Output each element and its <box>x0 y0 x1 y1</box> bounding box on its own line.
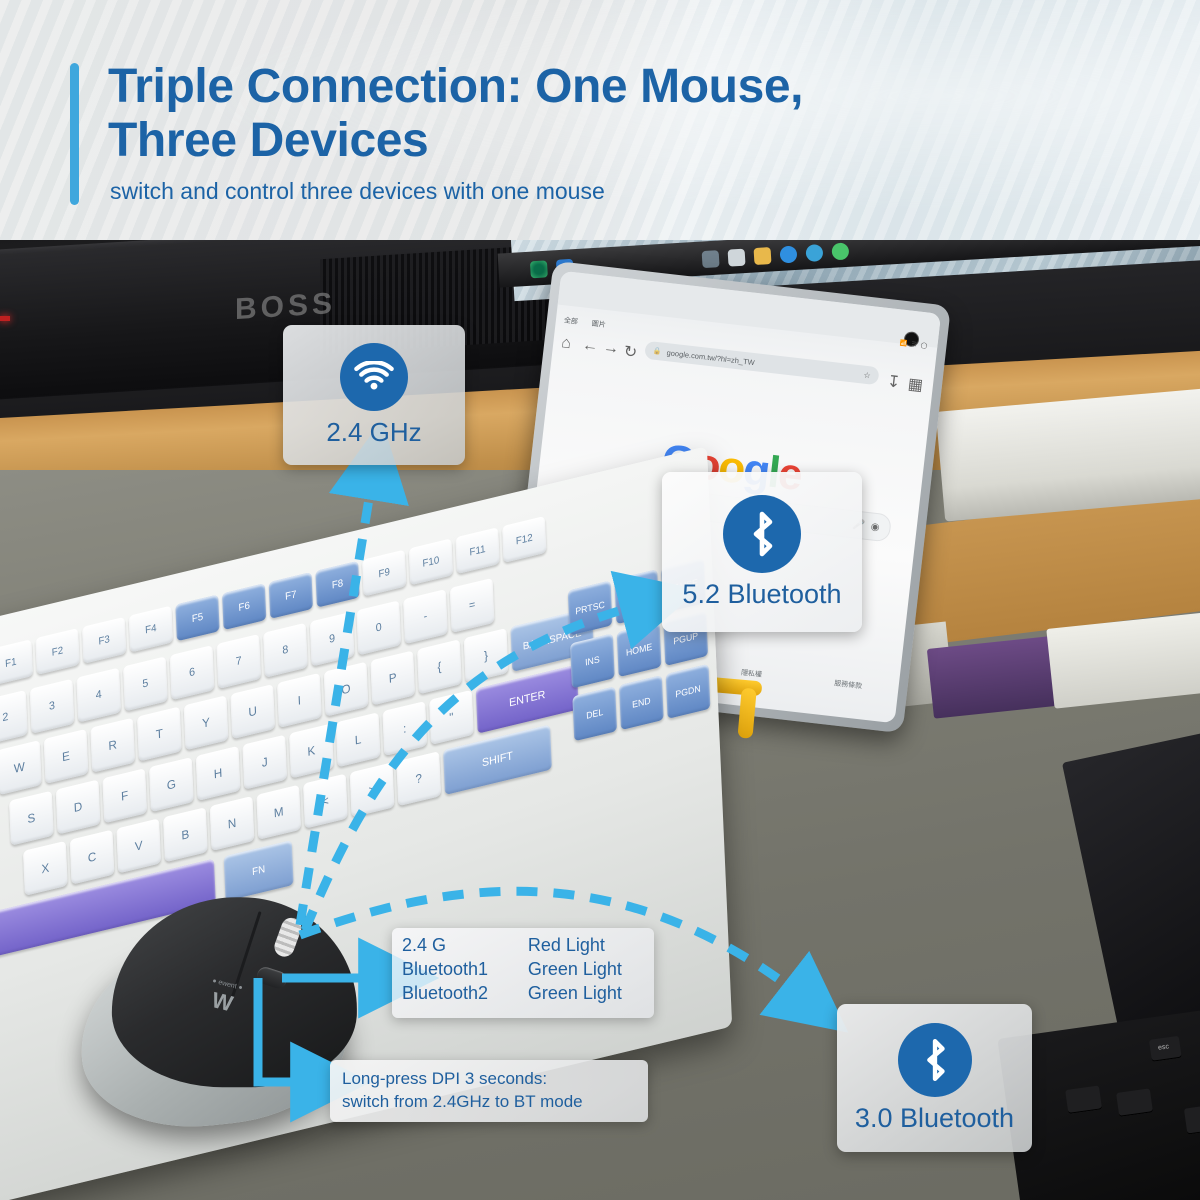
mode-cell: Bluetooth1 <box>402 958 528 982</box>
laptop-key <box>1116 1088 1153 1116</box>
badge-label-24ghz: 2.4 GHz <box>326 417 421 448</box>
reload-icon[interactable]: ↻ <box>624 341 637 354</box>
header-banner: Triple Connection: One Mouse, Three Devi… <box>0 0 1200 240</box>
taskbar-icon-spotify <box>831 242 849 260</box>
status-battery-icon: ◯ <box>920 342 927 350</box>
status-signal-icon: ☰ <box>911 341 917 349</box>
laptop-esc-label: esc <box>1158 1043 1170 1051</box>
scroll-wheel[interactable] <box>272 915 304 959</box>
callout-badge-24ghz: 2.4 GHz <box>283 325 465 465</box>
taskbar-icon-chrome <box>530 260 548 278</box>
laptop-key <box>1184 1104 1200 1135</box>
forward-icon[interactable]: → <box>603 339 616 352</box>
taskbar-icon-explorer <box>728 248 746 266</box>
dpi-button[interactable] <box>255 965 289 990</box>
hint-line-1: Long-press DPI 3 seconds: <box>342 1068 636 1091</box>
lock-icon: 🔒 <box>653 347 663 356</box>
bluetooth-icon <box>898 1023 972 1097</box>
console-box <box>936 388 1200 521</box>
light-cell: Red Light <box>528 934 644 958</box>
download-icon[interactable]: ↧ <box>887 371 900 384</box>
bookmark-star-icon[interactable]: ☆ <box>863 370 871 380</box>
hint-line-2: switch from 2.4GHz to BT mode <box>342 1091 636 1114</box>
page-title-line1: Triple Connection: One Mouse, <box>108 60 803 113</box>
taskbar-icon-folder <box>753 247 771 265</box>
lens-camera-icon[interactable]: ◉ <box>870 521 880 533</box>
accent-bar <box>70 63 79 205</box>
search-tab-images[interactable]: 圖片 <box>591 318 606 330</box>
laptop-key <box>1065 1085 1102 1113</box>
badge-label-bluetooth52: 5.2 Bluetooth <box>682 579 841 610</box>
taskbar-icon-teams <box>805 243 823 261</box>
back-icon[interactable]: ← <box>582 337 595 350</box>
page-title-line2: Three Devices <box>108 114 1088 168</box>
table-row: 2.4 GRed Light <box>402 934 644 958</box>
mouse-logo: W <box>209 987 235 1017</box>
footer-link[interactable]: 隱私權 <box>741 668 763 680</box>
badge-label-bluetooth30: 3.0 Bluetooth <box>855 1103 1014 1134</box>
dpi-hint-callout: Long-press DPI 3 seconds: switch from 2.… <box>330 1060 648 1122</box>
extensions-icon[interactable]: ▦ <box>908 374 921 387</box>
taskbar-icon-cloud <box>702 250 720 268</box>
search-tab-all[interactable]: 全部 <box>563 315 578 327</box>
receiver-led <box>0 316 10 321</box>
home-icon[interactable]: ⌂ <box>561 334 574 347</box>
address-bar-url: google.com.tw/?hl=zh_TW <box>666 348 755 367</box>
address-bar[interactable]: 🔒 google.com.tw/?hl=zh_TW ☆ <box>644 341 880 385</box>
footer-link[interactable]: 服務條款 <box>834 678 863 691</box>
table-row: Bluetooth1Green Light <box>402 958 644 982</box>
stand-leg <box>737 688 756 739</box>
mouse-upper-shell: ● ewent ● W <box>112 897 357 1087</box>
product-infographic: BOSS esc <box>0 0 1200 1200</box>
light-cell: Green Light <box>528 958 644 982</box>
wifi-icon <box>340 343 408 411</box>
table-row: Bluetooth2Green Light <box>402 982 644 1006</box>
mode-indicator-table: 2.4 GRed LightBluetooth1Green LightBluet… <box>392 928 654 1018</box>
light-cell: Green Light <box>528 982 644 1006</box>
page-title: Triple Connection: One Mouse, Three Devi… <box>108 60 1088 168</box>
status-wifi-icon: 📶 <box>900 339 908 347</box>
callout-badge-bluetooth52: 5.2 Bluetooth <box>662 472 862 632</box>
storage-box <box>1046 611 1200 708</box>
receiver-brand-label: BOSS <box>235 287 336 327</box>
banner-fade <box>0 210 1200 240</box>
mode-table: 2.4 GRed LightBluetooth1Green LightBluet… <box>402 934 644 1006</box>
page-subtitle: switch and control three devices with on… <box>110 178 605 205</box>
mode-cell: 2.4 G <box>402 934 528 958</box>
bluetooth-icon <box>723 495 801 573</box>
taskbar-icon-mail <box>779 245 797 263</box>
overflow-menu-icon[interactable]: ⋮ <box>929 376 941 389</box>
callout-badge-bluetooth30: 3.0 Bluetooth <box>837 1004 1032 1152</box>
mode-cell: Bluetooth2 <box>402 982 528 1006</box>
